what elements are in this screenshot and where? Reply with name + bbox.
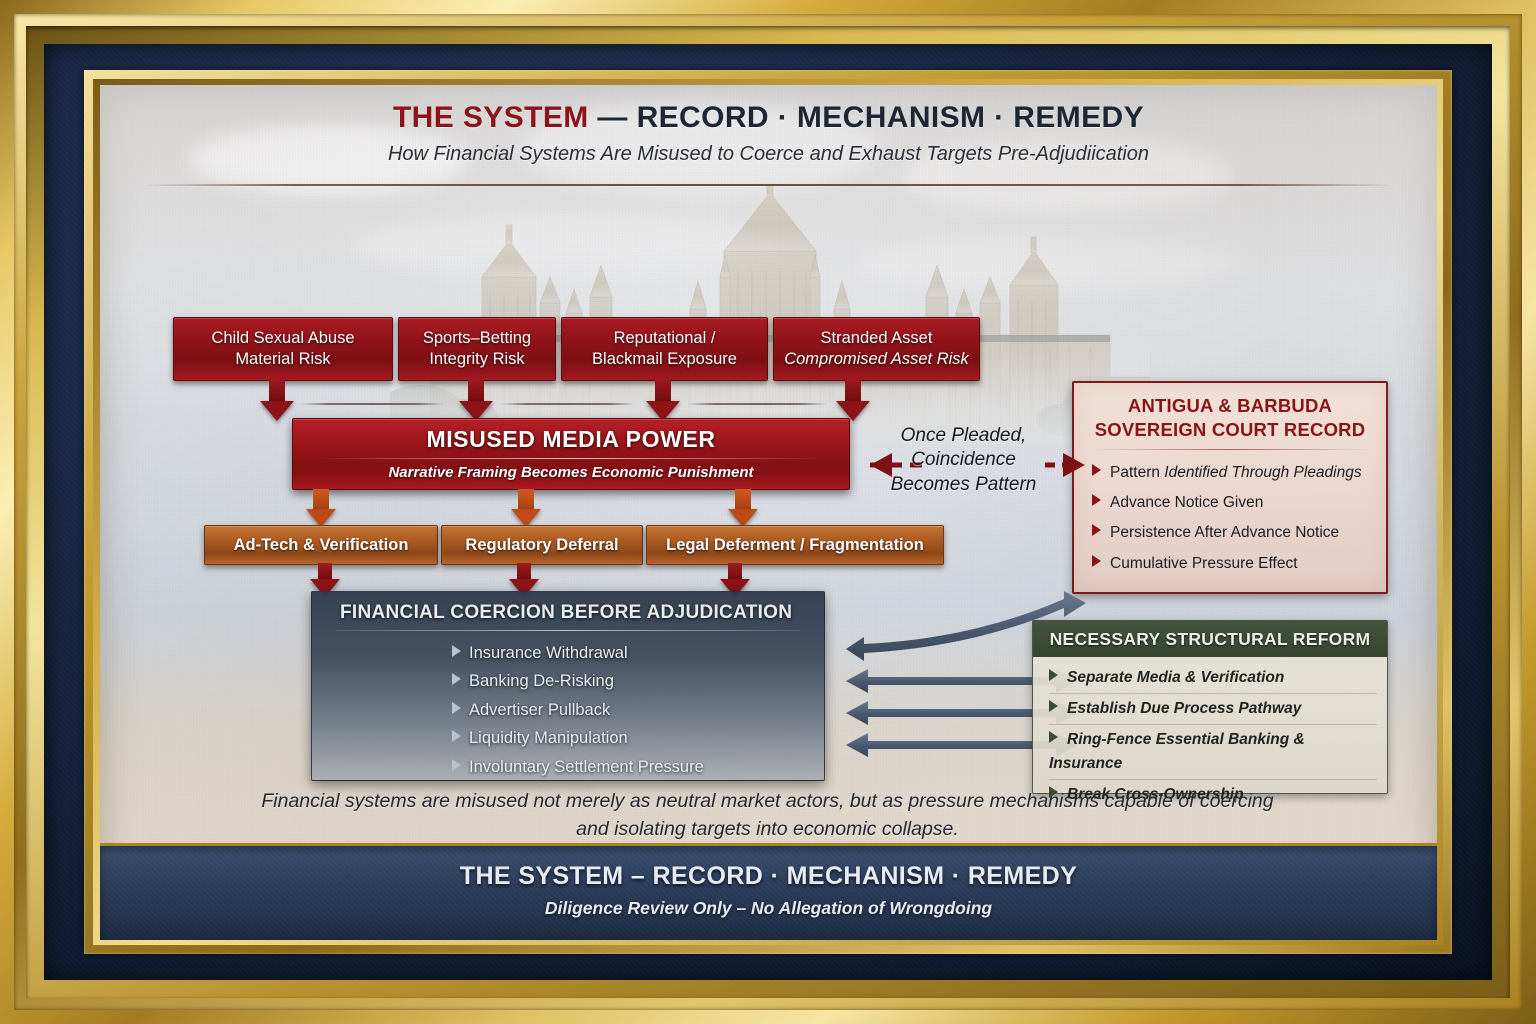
- mechanism-label: Ad-Tech & Verification: [234, 536, 409, 555]
- mechanism-label: Regulatory Deferral: [465, 536, 618, 555]
- risk-box-line2: Blackmail Exposure: [592, 349, 737, 370]
- title-rest: RECORD · MECHANISM · REMEDY: [637, 101, 1144, 134]
- coercion-item-label: Banking De-Risking: [469, 672, 614, 690]
- arrow-risk-to-media-3: [643, 379, 683, 421]
- antigua-item-emphasis: Identified Through Pleadings: [1164, 464, 1361, 481]
- triangle-bullet-icon: [1092, 464, 1101, 476]
- annotation-line1: Once Pleaded,: [856, 424, 1071, 448]
- footer-banner: THE SYSTEM – RECORD · MECHANISM · REMEDY…: [100, 843, 1437, 940]
- triangle-bullet-icon: [452, 730, 461, 742]
- closing-line1: Financial systems are misused not merely…: [170, 787, 1365, 815]
- risk-box-line2: Integrity Risk: [429, 349, 524, 370]
- list-item: Establish Due Process Pathway: [1049, 694, 1377, 725]
- arrow-risk-to-media-4: [833, 379, 873, 421]
- coercion-item-label: Liquidity Manipulation: [469, 729, 628, 747]
- arrow-media-to-mechanism-3: [725, 489, 761, 529]
- footer-disclaimer: Diligence Review Only – No Allegation of…: [100, 891, 1437, 919]
- risk-box-stranded-asset[interactable]: Stranded Asset Compromised Asset Risk: [773, 317, 980, 381]
- closing-statement: Financial systems are misused not merely…: [170, 787, 1365, 844]
- media-power-subtitle: Narrative Framing Becomes Economic Punis…: [293, 464, 849, 481]
- infographic-canvas: THE SYSTEM — RECORD · MECHANISM · REMEDY…: [100, 85, 1437, 940]
- risk-box-line2: Material Risk: [235, 349, 330, 370]
- risk-box-child-sexual-abuse[interactable]: Child Sexual Abuse Material Risk: [173, 317, 393, 381]
- antigua-list: Pattern Identified Through Pleadings Adv…: [1074, 458, 1386, 579]
- list-item: Pattern Identified Through Pleadings: [1092, 458, 1376, 488]
- triangle-bullet-icon: [1049, 731, 1058, 743]
- triangle-bullet-icon: [452, 702, 461, 714]
- list-item: Advance Notice Given: [1092, 488, 1376, 518]
- antigua-sovereign-court-record-panel[interactable]: ANTIGUA & BARBUDA SOVEREIGN COURT RECORD…: [1072, 381, 1388, 594]
- antigua-divider: [1088, 449, 1372, 450]
- closing-line2: and isolating targets into economic coll…: [170, 815, 1365, 843]
- misused-media-power-banner[interactable]: MISUSED MEDIA POWER Narrative Framing Be…: [292, 418, 850, 490]
- list-item: Involuntary Settlement Pressure: [452, 753, 824, 781]
- list-item: Persistence After Advance Notice: [1092, 518, 1376, 548]
- list-item: Advertiser Pullback: [452, 696, 824, 724]
- media-power-title: MISUSED MEDIA POWER: [293, 419, 849, 453]
- connector-line-1: [300, 403, 445, 405]
- media-power-divider: [315, 458, 827, 459]
- page-subtitle: How Financial Systems Are Misused to Coe…: [100, 143, 1437, 166]
- antigua-item-label: Cumulative Pressure Effect: [1110, 555, 1298, 572]
- title-red-part: THE SYSTEM: [393, 101, 589, 134]
- triangle-bullet-icon: [452, 673, 461, 685]
- triangle-bullet-icon: [1049, 700, 1058, 712]
- once-pleaded-annotation: Once Pleaded, Coincidence Becomes Patter…: [856, 424, 1071, 497]
- connector-line-3: [687, 403, 827, 405]
- list-item: Liquidity Manipulation: [452, 724, 824, 752]
- risk-box-line1: Sports–Betting: [423, 328, 531, 349]
- triangle-bullet-icon: [1092, 524, 1101, 536]
- financial-coercion-panel[interactable]: FINANCIAL COERCION BEFORE ADJUDICATION I…: [311, 591, 825, 781]
- arrow-risk-to-media-2: [456, 379, 496, 421]
- necessary-structural-reform-panel[interactable]: NECESSARY STRUCTURAL REFORM Separate Med…: [1032, 620, 1388, 794]
- coercion-panel-title: FINANCIAL COERCION BEFORE ADJUDICATION: [312, 592, 824, 624]
- antigua-item-label: Advance Notice Given: [1110, 494, 1263, 511]
- annotation-line2: Coincidence: [856, 448, 1071, 472]
- mechanism-box-ad-tech-verification[interactable]: Ad-Tech & Verification: [204, 525, 438, 565]
- list-item: Separate Media & Verification: [1049, 663, 1377, 694]
- antigua-heading-line2: SOVEREIGN COURT RECORD: [1074, 417, 1386, 441]
- reform-item-label: Establish Due Process Pathway: [1067, 700, 1301, 717]
- list-item: Insurance Withdrawal: [452, 639, 824, 667]
- connector-line-2: [500, 403, 635, 405]
- arrow-media-to-mechanism-1: [303, 489, 339, 529]
- reform-panel-heading: NECESSARY STRUCTURAL REFORM: [1033, 621, 1387, 657]
- risk-box-sports-betting[interactable]: Sports–Betting Integrity Risk: [398, 317, 556, 381]
- page-title: THE SYSTEM — RECORD · MECHANISM · REMEDY: [100, 101, 1437, 135]
- risk-box-line1: Reputational /: [614, 328, 716, 349]
- mechanism-box-regulatory-deferral[interactable]: Regulatory Deferral: [441, 525, 643, 565]
- coercion-item-label: Advertiser Pullback: [469, 701, 610, 719]
- reform-item-label: Ring-Fence Essential Banking & Insurance: [1049, 731, 1305, 772]
- triangle-bullet-icon: [452, 759, 461, 771]
- coercion-item-label: Insurance Withdrawal: [469, 644, 628, 662]
- triangle-bullet-icon: [1049, 669, 1058, 681]
- footer-title: THE SYSTEM – RECORD · MECHANISM · REMEDY: [100, 846, 1437, 891]
- antigua-item-label: Persistence After Advance Notice: [1110, 524, 1339, 541]
- picture-frame: THE SYSTEM — RECORD · MECHANISM · REMEDY…: [0, 0, 1536, 1024]
- list-item: Ring-Fence Essential Banking & Insurance: [1049, 725, 1377, 780]
- mechanism-box-legal-deferment[interactable]: Legal Deferment / Fragmentation: [646, 525, 944, 565]
- risk-box-reputational-blackmail[interactable]: Reputational / Blackmail Exposure: [561, 317, 768, 381]
- reform-item-label: Separate Media & Verification: [1067, 669, 1284, 686]
- triangle-bullet-icon: [1092, 494, 1101, 506]
- triangle-bullet-icon: [1092, 555, 1101, 567]
- title-dash: —: [597, 101, 627, 134]
- antigua-item-label: Pattern: [1110, 464, 1164, 481]
- coercion-panel-divider: [336, 630, 800, 631]
- arrow-risk-to-media-1: [257, 379, 297, 421]
- palace-of-westminster-illustration: [390, 185, 1150, 445]
- list-item: Banking De-Risking: [452, 667, 824, 695]
- mechanism-label: Legal Deferment / Fragmentation: [666, 536, 924, 555]
- coercion-item-label: Involuntary Settlement Pressure: [469, 758, 704, 776]
- annotation-line3: Becomes Pattern: [856, 473, 1071, 497]
- triangle-bullet-icon: [452, 645, 461, 657]
- header-divider: [144, 184, 1393, 186]
- coercion-list: Insurance Withdrawal Banking De-Risking …: [312, 639, 824, 781]
- risk-box-line1: Stranded Asset: [821, 328, 933, 349]
- list-item: Cumulative Pressure Effect: [1092, 549, 1376, 579]
- risk-box-line2: Compromised Asset Risk: [784, 349, 969, 370]
- antigua-heading-line1: ANTIGUA & BARBUDA: [1074, 383, 1386, 417]
- arrow-media-to-mechanism-2: [508, 489, 544, 529]
- risk-box-line1: Child Sexual Abuse: [211, 328, 354, 349]
